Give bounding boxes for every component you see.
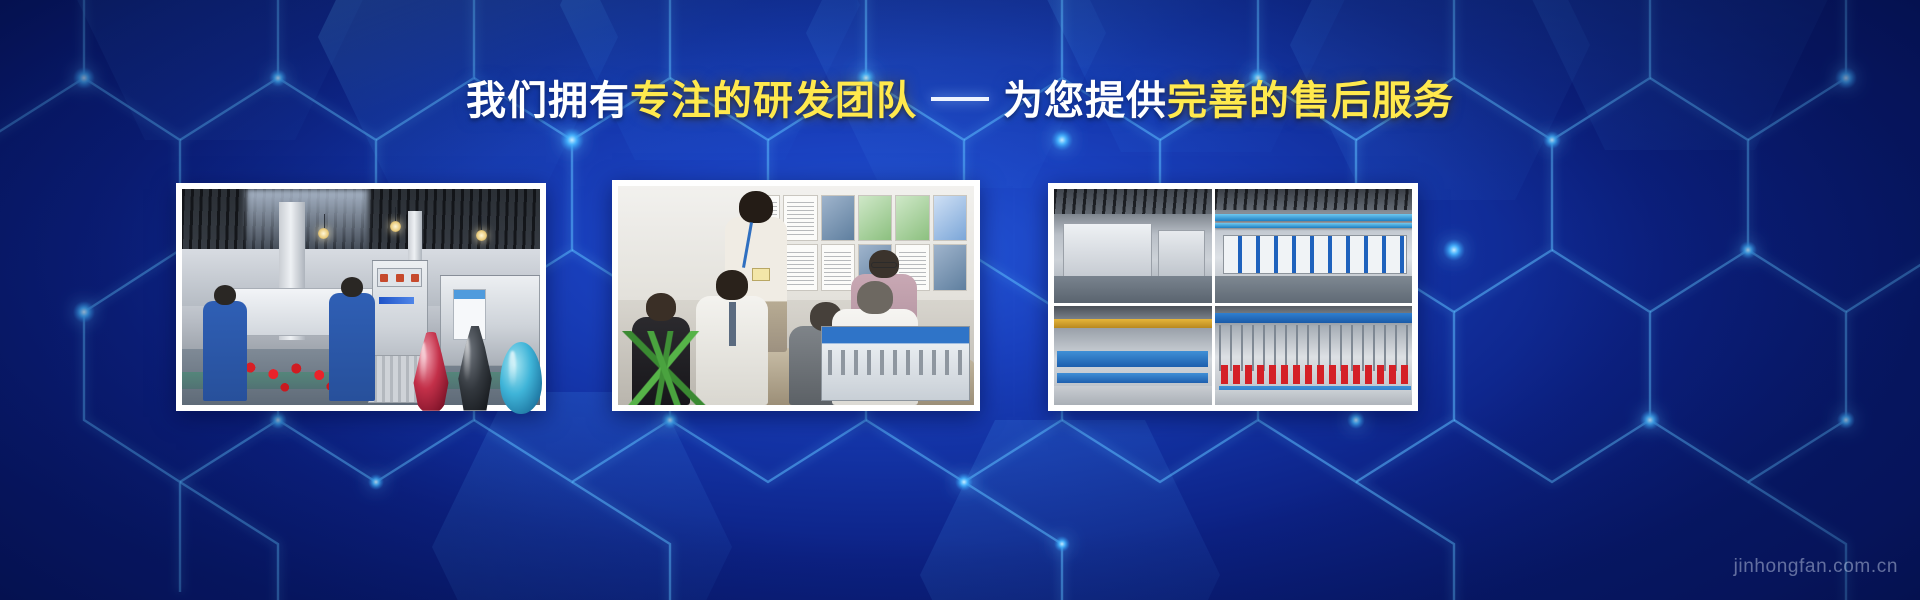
roof-structure	[1054, 189, 1212, 214]
collage-cell-conveyor	[1054, 306, 1212, 405]
ceiling-lamp-icon	[318, 228, 329, 239]
collage-cell-oven	[1054, 189, 1212, 303]
poster-green	[895, 195, 929, 242]
headline-segment-1: 我们拥有	[466, 79, 630, 123]
glasses-icon	[871, 262, 897, 268]
factory-skylight	[246, 189, 368, 254]
photo-image-equipment-collage	[1054, 189, 1412, 405]
vase-highlight	[509, 351, 516, 388]
blue-pipe	[1215, 214, 1412, 221]
photo-frame-equipment-collage[interactable]	[1048, 183, 1418, 411]
conveyor-rail	[1057, 373, 1208, 382]
machine-display	[821, 326, 971, 400]
poster-blue	[933, 195, 967, 242]
ceiling-lamp-icon	[476, 230, 487, 241]
worker-head	[341, 277, 363, 297]
collage-cell-pipe-hall	[1215, 189, 1412, 303]
collage-grid	[1054, 189, 1412, 405]
glass-vase-group	[408, 316, 548, 414]
conveyor-rail	[1057, 351, 1208, 367]
lanyard	[742, 222, 753, 268]
meeting-scene	[618, 186, 974, 405]
poster-green	[858, 195, 892, 242]
necktie	[729, 302, 736, 346]
ceiling-lamp-icon	[390, 221, 401, 232]
poster-photo	[821, 195, 855, 242]
photo-frame-team-meeting[interactable]	[612, 180, 980, 411]
poster	[783, 244, 817, 291]
vase-highlight	[420, 342, 426, 385]
photo-image-team-meeting	[618, 186, 974, 405]
cabinet-label	[379, 297, 414, 304]
headline-segment-3: 为您提供	[1003, 79, 1167, 123]
factory-worker	[329, 293, 375, 401]
workshop-floor	[1215, 276, 1412, 303]
promo-banner: 我们拥有专注的研发团队为您提供完善的售后服务	[0, 0, 1920, 600]
workshop-floor	[1054, 276, 1212, 303]
poster-photo	[933, 244, 967, 291]
oven-unit	[1063, 223, 1151, 278]
poster	[783, 195, 817, 242]
collage-cell-hanging-line	[1215, 306, 1412, 405]
red-parts-row	[1221, 365, 1409, 383]
overhead-rail	[1215, 313, 1412, 323]
headline-dash	[931, 97, 989, 101]
person-head	[646, 293, 676, 321]
auxiliary-unit	[1158, 230, 1205, 278]
headline-segment-2: 专注的研发团队	[630, 79, 917, 123]
control-panel	[377, 268, 422, 287]
vase-highlight	[464, 337, 470, 383]
blue-pipe	[1215, 223, 1412, 228]
worker-head	[214, 285, 236, 305]
person-head	[716, 270, 748, 300]
workshop-floor	[1054, 386, 1212, 405]
factory-worker	[203, 301, 247, 400]
roof-structure	[1215, 189, 1412, 210]
person-head	[857, 281, 893, 314]
yellow-crane-beam	[1054, 319, 1212, 328]
potted-plant	[622, 331, 707, 405]
seated-person	[696, 296, 768, 406]
person-head	[739, 191, 773, 223]
vase-blue	[500, 342, 542, 414]
id-badge	[752, 268, 770, 281]
workshop-floor	[1215, 390, 1412, 405]
headline-segment-4: 完善的售后服务	[1167, 79, 1454, 123]
headline: 我们拥有专注的研发团队为您提供完善的售后服务	[0, 78, 1920, 124]
vase-black	[456, 326, 494, 414]
poster	[821, 244, 855, 291]
vase-red	[412, 332, 450, 414]
equipment-row	[1223, 235, 1407, 274]
site-watermark: jinhongfan.com.cn	[1734, 556, 1898, 578]
